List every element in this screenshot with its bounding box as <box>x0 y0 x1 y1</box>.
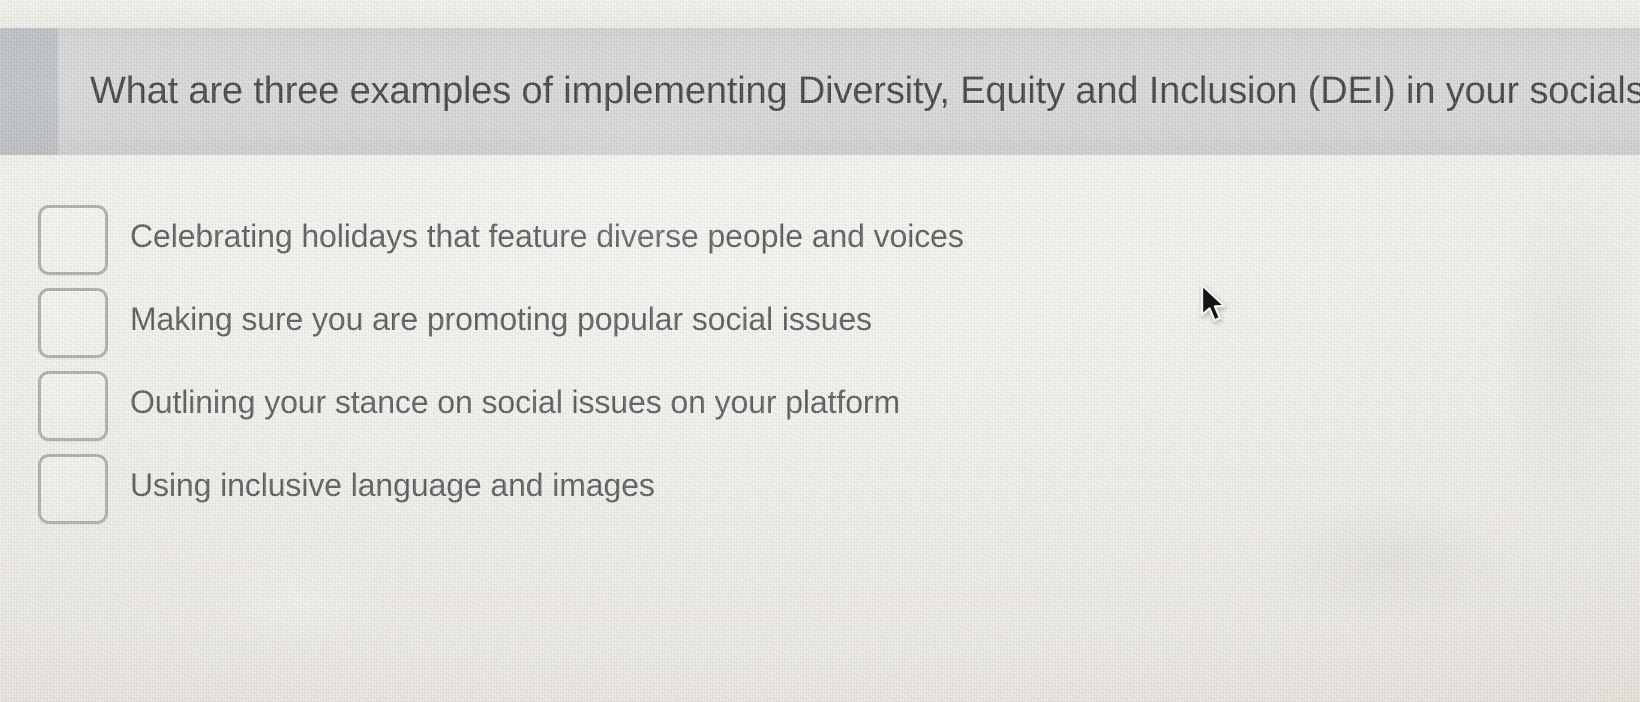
option-row[interactable]: Using inclusive language and images <box>0 446 1640 529</box>
option-label[interactable]: Celebrating holidays that feature divers… <box>130 219 964 254</box>
arrow-pointer-icon <box>1197 282 1231 326</box>
checkbox-icon[interactable] <box>38 371 108 441</box>
checkbox-icon[interactable] <box>38 205 108 275</box>
option-label[interactable]: Outlining your stance on social issues o… <box>130 385 900 420</box>
option-label[interactable]: Making sure you are promoting popular so… <box>130 302 872 337</box>
option-label[interactable]: Using inclusive language and images <box>130 468 655 503</box>
quiz-screen: What are three examples of implementing … <box>0 0 1640 702</box>
question-band-left-edge <box>0 28 58 155</box>
option-row[interactable]: Making sure you are promoting popular so… <box>0 280 1640 363</box>
checkbox-icon[interactable] <box>38 454 108 524</box>
top-background-strip <box>0 0 1640 28</box>
checkbox-icon[interactable] <box>38 288 108 358</box>
option-row[interactable]: Celebrating holidays that feature divers… <box>0 197 1640 280</box>
option-row[interactable]: Outlining your stance on social issues o… <box>0 363 1640 446</box>
question-text: What are three examples of implementing … <box>90 71 1640 113</box>
question-header-band: What are three examples of implementing … <box>0 28 1640 155</box>
options-list: Celebrating holidays that feature divers… <box>0 197 1640 529</box>
